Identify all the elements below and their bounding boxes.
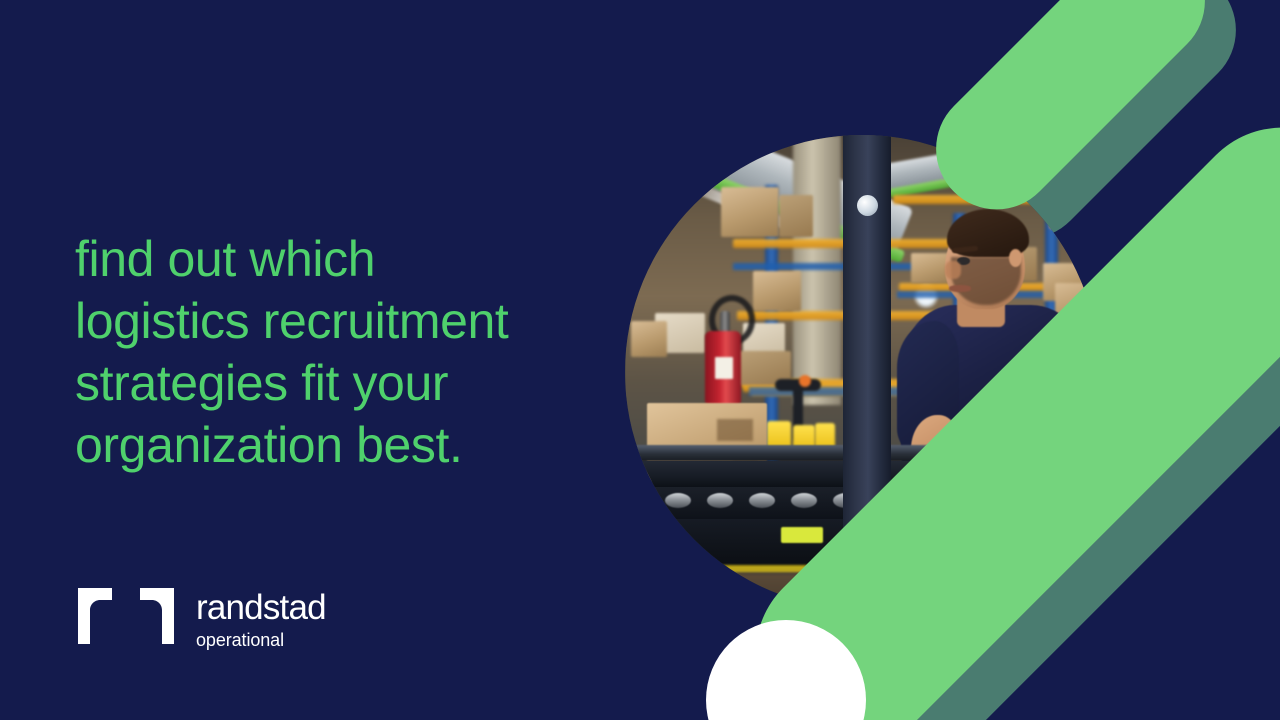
logo-wordmark: randstad: [196, 590, 326, 626]
pillar-light-dot: [857, 195, 878, 216]
banner-canvas: find out which logistics recruitment str…: [0, 0, 1280, 720]
white-circle: [706, 620, 866, 720]
shelf-box-4: [631, 321, 667, 357]
conveyor-roller: [707, 493, 733, 508]
control-led: [925, 531, 932, 538]
conveyor-roller: [791, 493, 817, 508]
shelf-box-6: [753, 271, 801, 311]
concrete-column: [793, 135, 841, 405]
conveyor-roller: [1037, 493, 1063, 508]
logo-wordmark-group: randstad operational: [196, 590, 326, 651]
logo-subbrand: operational: [196, 629, 326, 651]
conveyor-roller: [665, 493, 691, 508]
control-led: [965, 531, 972, 538]
control-led: [943, 545, 969, 557]
conveyor-roller: [749, 493, 775, 508]
conveyor-warning-tag: [781, 527, 823, 543]
control-led: [941, 531, 948, 538]
foreground-box-label: [717, 419, 753, 441]
control-led: [925, 547, 932, 554]
pallet-jack-knob: [799, 375, 811, 387]
randstad-twin-hook-icon: [78, 588, 174, 644]
pallet-jack-grip: [775, 379, 821, 391]
control-led: [977, 547, 984, 554]
hero-photo-circle: [625, 135, 1099, 609]
right-box-3: [1049, 177, 1099, 229]
shelf-box-2: [779, 195, 813, 237]
conveyor-roller: [995, 493, 1021, 508]
conveyor-roller: [953, 493, 979, 508]
page-title: find out which logistics recruitment str…: [75, 228, 595, 476]
worker-mouth: [949, 285, 971, 292]
conveyor-roller: [911, 493, 937, 508]
fire-extinguisher-label: [715, 357, 733, 379]
worker-nose: [945, 261, 961, 279]
worker-ear: [1009, 249, 1022, 267]
worker-shirt-logo: [1025, 347, 1053, 359]
warehouse-scene: [625, 135, 1099, 609]
control-led: [985, 529, 1007, 540]
shelf-box-1: [721, 187, 779, 237]
brand-logo[interactable]: randstad operational: [78, 588, 326, 651]
